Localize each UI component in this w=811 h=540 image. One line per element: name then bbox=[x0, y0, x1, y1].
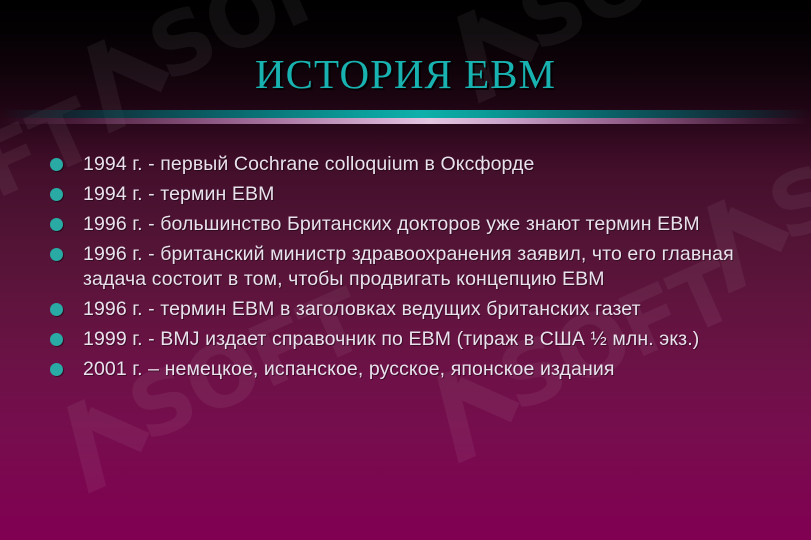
k-logo-icon bbox=[56, 380, 152, 493]
list-item-label: 1994 г. - термин EBM bbox=[83, 182, 770, 207]
bullet-dot-icon bbox=[50, 218, 63, 231]
list-item-label: 1996 г. - британский министр здравоохран… bbox=[83, 242, 770, 292]
list-item-label: 1996 г. - большинство Британских докторо… bbox=[83, 212, 770, 237]
bullet-dot-icon bbox=[50, 363, 63, 376]
divider-pink-band bbox=[0, 118, 811, 124]
list-item: 1996 г. - британский министр здравоохран… bbox=[50, 242, 770, 292]
list-item: 2001 г. – немецкое, испанское, русское, … bbox=[50, 357, 770, 382]
bullet-list: 1994 г. - первый Cochrane colloquium в О… bbox=[50, 152, 770, 387]
list-item: 1996 г. - большинство Британских докторо… bbox=[50, 212, 770, 237]
title-divider bbox=[0, 110, 811, 124]
bullet-dot-icon bbox=[50, 158, 63, 171]
list-item-label: 2001 г. – немецкое, испанское, русское, … bbox=[83, 357, 770, 382]
bullet-dot-icon bbox=[50, 188, 63, 201]
divider-teal-band bbox=[0, 110, 811, 118]
list-item-label: 1994 г. - первый Cochrane colloquium в О… bbox=[83, 152, 770, 177]
bullet-dot-icon bbox=[50, 333, 63, 346]
list-item-label: 1996 г. - термин EBM в заголовках ведущи… bbox=[83, 297, 770, 322]
list-item: 1996 г. - термин EBM в заголовках ведущи… bbox=[50, 297, 770, 322]
list-item: 1994 г. - первый Cochrane colloquium в О… bbox=[50, 152, 770, 177]
list-item: 1999 г. - BMJ издает справочник по EBM (… bbox=[50, 327, 770, 352]
list-item-label: 1999 г. - BMJ издает справочник по EBM (… bbox=[83, 327, 770, 352]
page-title: ИСТОРИЯ EBM bbox=[255, 50, 556, 98]
list-item: 1994 г. - термин EBM bbox=[50, 182, 770, 207]
bullet-dot-icon bbox=[50, 303, 63, 316]
presentation-slide: SOFT SOFT SOFT SOFT SOFT SOFT ИСТОРИЯ EB… bbox=[0, 0, 811, 540]
bullet-dot-icon bbox=[50, 248, 63, 261]
slide-title-area: ИСТОРИЯ EBM bbox=[0, 50, 811, 98]
